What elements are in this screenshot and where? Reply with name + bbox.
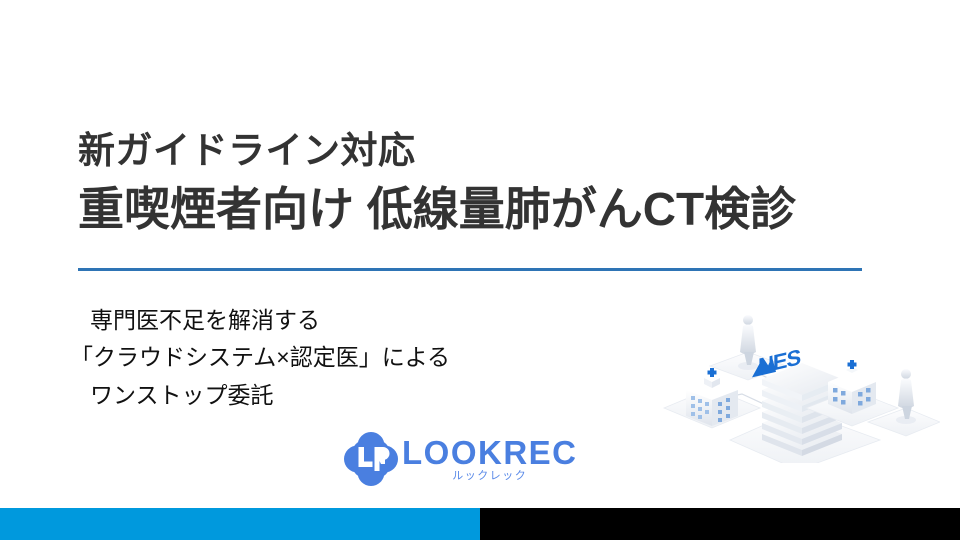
page-title-line-2: 重喫煙者向け 低線量肺がんCT検診 (78, 180, 878, 240)
lookrec-logo: LOOKREC ルックレック (344, 432, 578, 486)
title-block: 新ガイドライン対応 重喫煙者向け 低線量肺がんCT検診 (78, 128, 878, 240)
title-divider (78, 268, 862, 271)
lookrec-logo-mark-icon (344, 432, 398, 486)
illustration-clinic-building-right (828, 360, 876, 414)
subtitle-line-2: 「クラウドシステム×認定医」による (70, 339, 550, 376)
illustration-hospital-building-left (686, 368, 738, 426)
page-title-line-1: 新ガイドライン対応 (78, 128, 878, 174)
subtitle-line-3: ワンストップ委託 (70, 377, 550, 414)
subtitle-line-1: 専門医不足を解消する (70, 302, 550, 339)
footer-bar-right (480, 508, 960, 540)
lookrec-logo-wordmark: LOOKREC ルックレック (402, 436, 578, 482)
footer-bar (0, 508, 960, 540)
lookrec-logo-name: LOOKREC (402, 436, 578, 469)
footer-bar-left (0, 508, 480, 540)
subtitle-block: 専門医不足を解消する 「クラウドシステム×認定医」による ワンストップ委託 (70, 302, 550, 414)
illustration-isometric-network: NES (650, 298, 940, 463)
slide-canvas: 新ガイドライン対応 重喫煙者向け 低線量肺がんCT検診 専門医不足を解消する 「… (0, 0, 960, 540)
medical-cross-icon (848, 360, 857, 369)
lookrec-logo-kana: ルックレック (452, 471, 527, 482)
